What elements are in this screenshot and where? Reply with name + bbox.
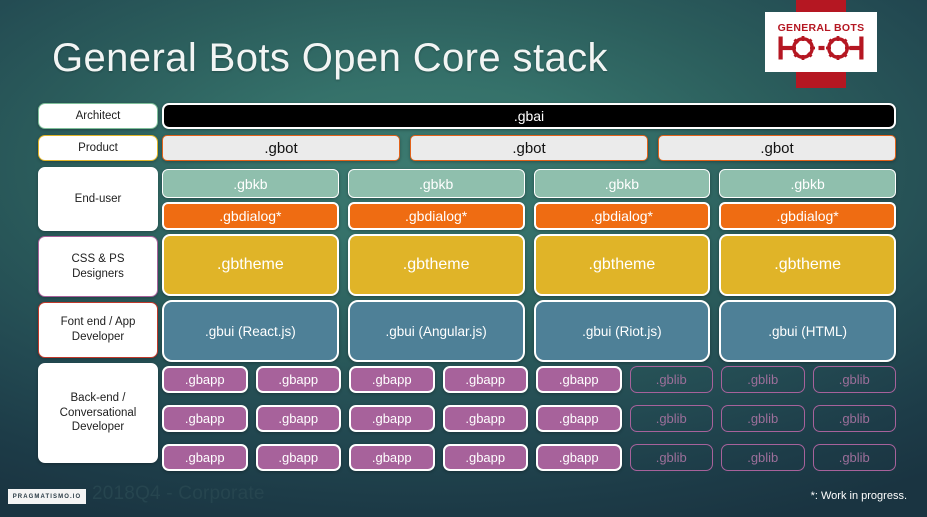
gblib-box[interactable]: .gblib — [813, 444, 897, 471]
gbapp-label: .gbapp — [372, 411, 412, 426]
role-label-text: Product — [78, 141, 118, 156]
gbdialog-box[interactable]: .gbdialog* — [348, 202, 525, 230]
gbtheme-box[interactable]: .gbtheme — [162, 234, 339, 296]
role-label-text: End-user — [75, 192, 122, 207]
gblib-box[interactable]: .gblib — [813, 405, 897, 432]
gblib-label: .gblib — [839, 450, 870, 465]
gbui-box[interactable]: .gbui (Angular.js) — [348, 300, 525, 362]
gbapp-label: .gbapp — [278, 450, 318, 465]
gblib-label: .gblib — [656, 411, 687, 426]
gbui-band: .gbui (React.js).gbui (Angular.js).gbui … — [162, 300, 896, 362]
gbapp-box[interactable]: .gbapp — [443, 405, 529, 432]
gbot-box[interactable]: .gbot — [410, 135, 648, 161]
gblib-label: .gblib — [747, 411, 778, 426]
gbapp-row-3: .gbapp.gbapp.gbapp.gbapp.gbapp.gblib.gbl… — [162, 444, 896, 471]
gbui-box[interactable]: .gbui (HTML) — [719, 300, 896, 362]
gbapp-label: .gbapp — [465, 450, 505, 465]
gblib-box[interactable]: .gblib — [630, 366, 714, 393]
gbdialog-label: .gbdialog* — [219, 208, 281, 224]
gbdialog-label: .gbdialog* — [405, 208, 467, 224]
gbapp-label: .gbapp — [559, 450, 599, 465]
pragmatismo-logo: PRAGMATISMO.IO — [8, 489, 86, 504]
gbapp-box[interactable]: .gbapp — [256, 405, 342, 432]
gbkb-label: .gbkb — [419, 176, 453, 192]
role-label-1: Architect — [38, 103, 158, 129]
gbapp-row-1: .gbapp.gbapp.gbapp.gbapp.gbapp.gblib.gbl… — [162, 366, 896, 393]
gears-logo-icon — [775, 35, 867, 61]
gbui-box[interactable]: .gbui (Riot.js) — [534, 300, 711, 362]
gbdialog-label: .gbdialog* — [776, 208, 838, 224]
gbui-label: .gbui (Riot.js) — [582, 324, 662, 339]
gblib-box[interactable]: .gblib — [630, 444, 714, 471]
gbtheme-band: .gbtheme.gbtheme.gbtheme.gbtheme — [162, 234, 896, 296]
gbtheme-label: .gbtheme — [403, 256, 470, 274]
gbdialog-label: .gbdialog* — [591, 208, 653, 224]
logo-card: GENERAL BOTS — [765, 12, 877, 72]
gbapp-label: .gbapp — [185, 372, 225, 387]
gbot-box[interactable]: .gbot — [658, 135, 896, 161]
gbapp-box[interactable]: .gbapp — [536, 366, 622, 393]
gbtheme-box[interactable]: .gbtheme — [348, 234, 525, 296]
gbai-label: .gbai — [514, 108, 544, 124]
gblib-label: .gblib — [747, 450, 778, 465]
gbai-band: .gbai — [162, 103, 896, 129]
role-label-3: End-user — [38, 167, 158, 231]
role-label-2: Product — [38, 135, 158, 161]
slide-footer: PRAGMATISMO.IO 2018Q4 - Corporate *: Wor… — [0, 481, 927, 517]
role-label-4: CSS & PSDesigners — [38, 236, 158, 297]
gblib-label: .gblib — [839, 411, 870, 426]
gbapp-box[interactable]: .gbapp — [443, 366, 529, 393]
gbot-label: .gbot — [512, 140, 545, 157]
footer-caption: 2018Q4 - Corporate — [92, 483, 265, 505]
gbtheme-label: .gbtheme — [217, 256, 284, 274]
gbapp-label: .gbapp — [185, 411, 225, 426]
gblib-label: .gblib — [656, 372, 687, 387]
role-label-text: CSS & PSDesigners — [71, 252, 124, 281]
gbapp-box[interactable]: .gbapp — [162, 405, 248, 432]
gbkb-box[interactable]: .gbkb — [534, 169, 711, 198]
gbapp-box[interactable]: .gbapp — [256, 444, 342, 471]
gbkb-label: .gbkb — [233, 176, 267, 192]
gbtheme-label: .gbtheme — [589, 256, 656, 274]
gbtheme-box[interactable]: .gbtheme — [534, 234, 711, 296]
gbapp-box[interactable]: .gbapp — [349, 366, 435, 393]
gbapp-box[interactable]: .gbapp — [256, 366, 342, 393]
gbui-label: .gbui (React.js) — [205, 324, 296, 339]
gbui-label: .gbui (HTML) — [768, 324, 847, 339]
role-label-text: Back-end /ConversationalDeveloper — [60, 391, 137, 435]
gblib-box[interactable]: .gblib — [813, 366, 897, 393]
gbapp-box[interactable]: .gbapp — [349, 405, 435, 432]
gbapp-row-2: .gbapp.gbapp.gbapp.gbapp.gbapp.gblib.gbl… — [162, 405, 896, 432]
general-bots-logo: GENERAL BOTS — [765, 0, 877, 88]
gbapp-box[interactable]: .gbapp — [536, 405, 622, 432]
gbai-box[interactable]: .gbai — [162, 103, 896, 129]
gbkb-label: .gbkb — [605, 176, 639, 192]
gbot-label: .gbot — [760, 140, 793, 157]
gbui-box[interactable]: .gbui (React.js) — [162, 300, 339, 362]
gbkb-band: .gbkb.gbkb.gbkb.gbkb — [162, 169, 896, 198]
gblib-label: .gblib — [747, 372, 778, 387]
gbapp-label: .gbapp — [559, 372, 599, 387]
gbapp-box[interactable]: .gbapp — [349, 444, 435, 471]
footnote-text: *: Work in progress. — [811, 490, 907, 502]
gbkb-label: .gbkb — [791, 176, 825, 192]
gbkb-box[interactable]: .gbkb — [719, 169, 896, 198]
role-label-6: Back-end /ConversationalDeveloper — [38, 363, 158, 463]
gbapp-label: .gbapp — [465, 372, 505, 387]
gbapp-box[interactable]: .gbapp — [443, 444, 529, 471]
role-label-text: Font end / AppDeveloper — [61, 315, 136, 344]
gbapp-label: .gbapp — [278, 411, 318, 426]
gbui-label: .gbui (Angular.js) — [385, 324, 486, 339]
gbapp-label: .gbapp — [278, 372, 318, 387]
gbapp-label: .gbapp — [559, 411, 599, 426]
page-title: General Bots Open Core stack — [52, 36, 608, 81]
gblib-label: .gblib — [656, 450, 687, 465]
gblib-box[interactable]: .gblib — [721, 366, 805, 393]
role-label-text: Architect — [76, 109, 121, 124]
gbot-band: .gbot.gbot.gbot — [162, 135, 896, 161]
gbot-box[interactable]: .gbot — [162, 135, 400, 161]
gbapp-box[interactable]: .gbapp — [162, 366, 248, 393]
gbapp-label: .gbapp — [465, 411, 505, 426]
gbapp-label: .gbapp — [372, 372, 412, 387]
gbdialog-band: .gbdialog*.gbdialog*.gbdialog*.gbdialog* — [162, 202, 896, 230]
gblib-box[interactable]: .gblib — [630, 405, 714, 432]
logo-brand-text: GENERAL BOTS — [778, 23, 865, 34]
gblib-label: .gblib — [839, 372, 870, 387]
gbot-label: .gbot — [264, 140, 297, 157]
gbkb-box[interactable]: .gbkb — [162, 169, 339, 198]
slide-canvas: General Bots Open Core stack GENERAL BOT… — [0, 0, 927, 517]
gbdialog-box[interactable]: .gbdialog* — [719, 202, 896, 230]
gbtheme-label: .gbtheme — [774, 256, 841, 274]
gbtheme-box[interactable]: .gbtheme — [719, 234, 896, 296]
role-label-5: Font end / AppDeveloper — [38, 302, 158, 358]
gbapp-label: .gbapp — [372, 450, 412, 465]
gbapp-label: .gbapp — [185, 450, 225, 465]
gbapp-box[interactable]: .gbapp — [536, 444, 622, 471]
gbkb-box[interactable]: .gbkb — [348, 169, 525, 198]
gbapp-box[interactable]: .gbapp — [162, 444, 248, 471]
gbdialog-box[interactable]: .gbdialog* — [162, 202, 339, 230]
gblib-box[interactable]: .gblib — [721, 444, 805, 471]
pragmatismo-logo-text: PRAGMATISMO.IO — [13, 494, 82, 500]
gbdialog-box[interactable]: .gbdialog* — [534, 202, 711, 230]
gblib-box[interactable]: .gblib — [721, 405, 805, 432]
